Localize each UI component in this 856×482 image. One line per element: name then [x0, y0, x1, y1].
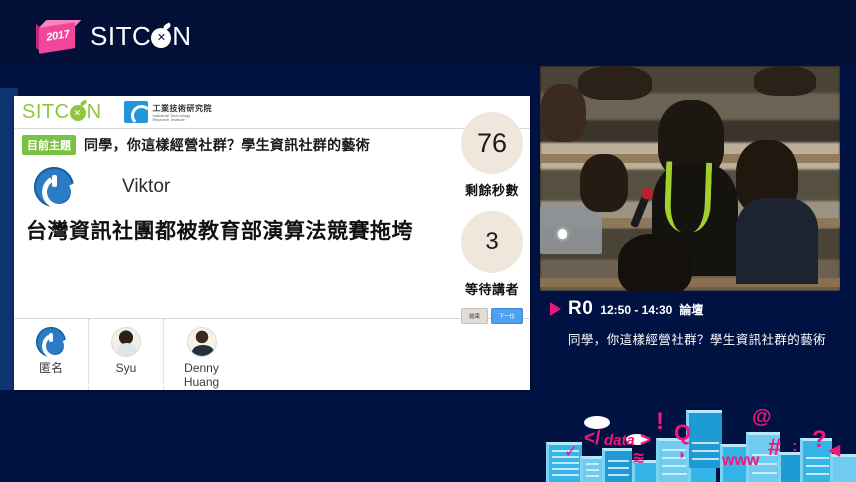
person-back-row-2 — [754, 66, 816, 96]
check-icon: ✓ — [564, 442, 578, 462]
queue-controls: 結束 下一位 — [461, 308, 523, 324]
sitcon-brand-logo: 2017 SITC✕N — [36, 20, 192, 53]
session-type: 論壇 — [679, 301, 703, 318]
top-bar: 2017 SITC✕N — [0, 0, 856, 66]
list-item[interactable]: Denny Huang — [164, 319, 239, 390]
apple-o-icon: ✕ — [151, 27, 172, 48]
apple-o-icon-green: ✕ — [70, 104, 87, 121]
live-video-player[interactable] — [540, 66, 840, 291]
waiting-speakers-value: 3 — [461, 211, 523, 273]
exclamation-icon: ! — [656, 408, 664, 436]
session-info: R0 12:50 - 14:30 論壇 同學，你這樣經營社群？學生資訊社群的藝術 — [540, 292, 856, 354]
speaker-name: Denny Huang — [170, 362, 234, 390]
code-bracket-icon: </ — [584, 428, 600, 450]
speaker-name: 匿名 — [19, 362, 83, 376]
data-label: data — [604, 432, 635, 449]
question-text: 台灣資訊社團都被教育部演算法競賽拖垮 — [26, 215, 522, 245]
hash-icon: # — [768, 434, 781, 462]
waiting-speakers-label: 等待講者 — [465, 279, 519, 298]
city-illustration: ✓ </ data > ! Q ≋ ◗ www @ # : ? ◀ — [540, 390, 856, 482]
list-item[interactable]: 匿名 — [14, 319, 89, 390]
sitcon-logo-green: SITC✕N — [22, 101, 102, 124]
sponsor-name-zh: 工業技術研究院 — [153, 103, 213, 114]
wifi-icon: ≋ — [632, 448, 645, 468]
x-glyph: ✕ — [156, 33, 167, 44]
current-topic-badge: 目前主題 — [22, 135, 76, 155]
gravatar-default-icon — [36, 327, 66, 357]
itri-mark-icon — [124, 101, 148, 123]
counters-column: 76 剩餘秒數 3 等待講者 結束 下一位 — [452, 112, 532, 324]
dots-icon: : — [792, 438, 797, 456]
building — [580, 456, 602, 482]
question-author-name: Viktor — [122, 176, 170, 198]
speaker-queue-strip: 匿名 Syu Denny Huang — [14, 318, 530, 390]
brand-wordmark: SITC✕N — [90, 21, 192, 52]
apple-logo-icon — [558, 229, 567, 239]
year-cube-icon: 2017 — [36, 20, 80, 53]
www-label: www — [722, 452, 759, 470]
session-time: 12:50 - 14:30 — [600, 303, 672, 317]
person-far-left — [540, 84, 586, 142]
search-icon: Q — [674, 420, 691, 446]
laptop-in-frame — [540, 206, 602, 254]
remaining-seconds-value: 76 — [461, 112, 523, 174]
x-glyph-green: ✕ — [73, 108, 83, 118]
next-speaker-button[interactable]: 下一位 — [491, 308, 523, 324]
sitcon-green-suffix: N — [87, 101, 102, 124]
building — [686, 410, 722, 468]
list-item[interactable]: Syu — [89, 319, 164, 390]
end-button[interactable]: 結束 — [461, 308, 488, 324]
gravatar-default-icon — [34, 167, 74, 207]
at-sign-icon: @ — [752, 406, 772, 429]
question-mark-icon: ? — [812, 426, 827, 454]
play-triangle-icon — [550, 302, 561, 316]
session-title: 同學，你這樣經營社群？學生資訊社群的藝術 — [540, 320, 856, 348]
avatar — [111, 327, 141, 357]
session-room: R0 — [568, 298, 593, 320]
sponsor-name-en-2: Research Institute — [153, 118, 213, 122]
person-back-row — [578, 66, 652, 100]
sponsor-logo-itri: 工業技術研究院 Industrial Technology Research I… — [124, 101, 213, 123]
building — [602, 448, 632, 482]
person-foreground — [618, 234, 692, 291]
current-topic-title: 同學，你這樣經營社群？學生資訊社群的藝術 — [84, 135, 370, 155]
session-meta-row: R0 12:50 - 14:30 論壇 — [540, 292, 856, 320]
brand-wordmark-suffix: N — [172, 21, 191, 51]
megaphone-icon: ◀ — [828, 440, 840, 460]
person-left — [580, 154, 628, 212]
avatar — [187, 327, 217, 357]
brand-wordmark-prefix: SITC — [90, 21, 151, 51]
lanyard — [664, 161, 712, 233]
person-right-body — [736, 198, 818, 284]
sitcon-green-prefix: SITC — [22, 101, 70, 124]
remaining-seconds-label: 剩餘秒數 — [465, 180, 519, 199]
chat-bubble-icon: ◗ — [678, 446, 686, 462]
speaker-name: Syu — [94, 362, 158, 376]
question-author-row: Viktor — [34, 167, 522, 207]
